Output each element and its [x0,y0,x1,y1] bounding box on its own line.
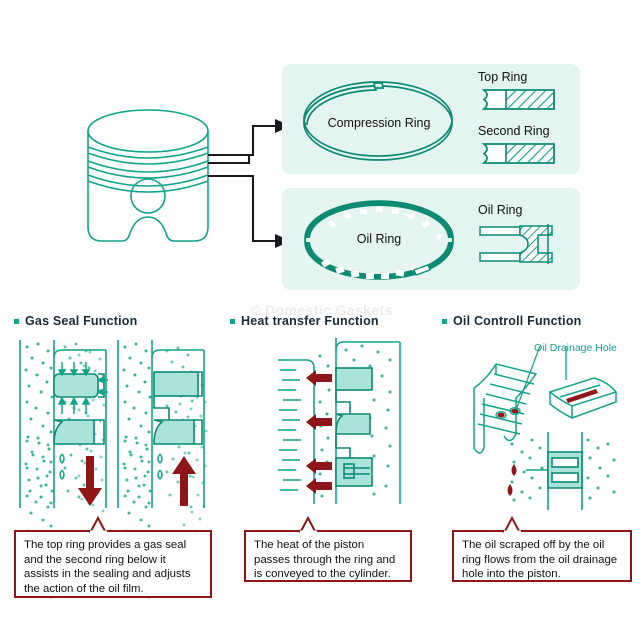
second-ring-label: Second Ring [478,124,550,138]
bullet-icon [230,319,235,324]
gas-seal-illustration [14,336,214,512]
bullet-icon [442,319,447,324]
oil-droplets-red [508,464,517,496]
caption-pointer-oil-control [500,516,530,534]
section-title-gas-seal: Gas Seal Function [14,314,137,328]
section-title-oil-control: Oil Controll Function [442,314,582,328]
caption-pointer-heat-transfer [296,516,326,534]
compression-ring-label: Compression Ring [318,116,440,130]
top-ring-label: Top Ring [478,70,527,84]
oil-ring-section-label: Oil Ring [478,203,522,217]
diagram-canvas: Compression Ring Top Ring Second Ring [0,0,640,640]
bullet-icon [14,319,19,324]
caption-oil-control: The oil scraped off by the oil ring flow… [452,530,632,582]
heat-arrows-red [306,370,332,494]
caption-heat-transfer: The heat of the piston passes through th… [244,530,412,582]
oil-ring-ellipse-label: Oil Ring [330,232,428,246]
second-ring-cross-section [478,142,556,166]
caption-pointer-gas-seal [86,516,116,534]
down-arrow-red [172,456,196,506]
oil-control-illustration [470,352,635,512]
heat-transfer-illustration [270,336,410,506]
top-ring-cross-section [478,88,556,112]
section-title-heat-transfer: Heat transfer Function [230,314,379,328]
oil-ring-cross-section [476,222,560,266]
caption-gas-seal: The top ring provides a gas seal and the… [14,530,212,598]
